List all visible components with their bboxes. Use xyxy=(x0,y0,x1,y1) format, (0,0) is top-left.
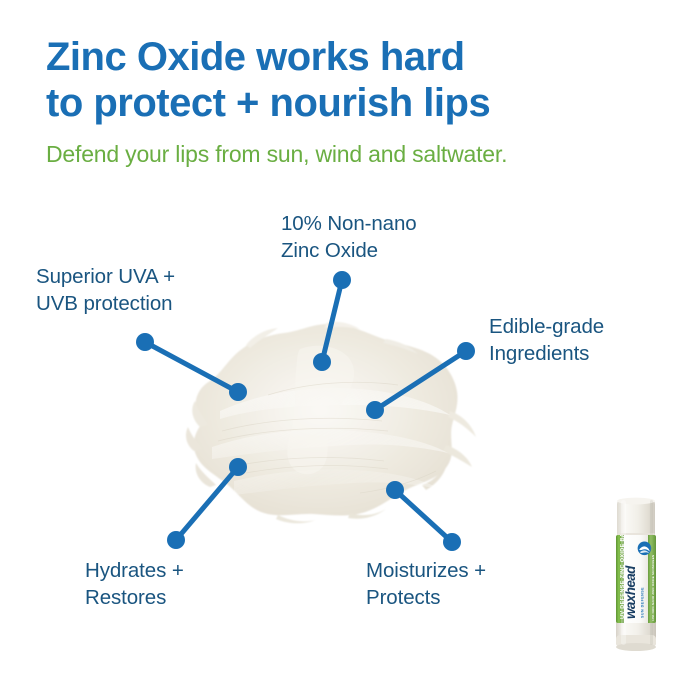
callout-line-1: 10% Non-nano xyxy=(281,210,417,237)
infographic-canvas: Zinc Oxide works hard to protect + nouri… xyxy=(0,0,679,679)
product-lip-balm-tube: waxhead SUN DEFENSE UV DEFENSE ZINC OXID… xyxy=(611,497,661,657)
connector-dot-non-nano-zinc-oxide-label xyxy=(333,271,351,289)
callout-line-1: Superior UVA + xyxy=(36,263,175,290)
callout-label-superior-uva-uvb: Superior UVA + UVB protection xyxy=(36,263,175,318)
page-subtitle: Defend your lips from sun, wind and salt… xyxy=(46,141,666,169)
page-title: Zinc Oxide works hard to protect + nouri… xyxy=(46,34,646,127)
callout-line-2: Ingredients xyxy=(489,340,604,367)
callout-line-2: Zinc Oxide xyxy=(281,237,417,264)
zinc-oxide-balm-swatch xyxy=(150,315,490,535)
headline-line-1: Zinc Oxide works hard xyxy=(46,34,646,80)
callout-line-2: Restores xyxy=(85,584,184,611)
connector-dot-moisturizes-protects-label xyxy=(443,533,461,551)
callout-line-1: Hydrates + xyxy=(85,557,184,584)
callout-label-moisturizes-protects: Moisturizes + Protects xyxy=(366,557,486,612)
callout-label-non-nano-zinc-oxide: 10% Non-nano Zinc Oxide xyxy=(281,210,417,265)
callout-label-edible-grade-ingredients: Edible-grade Ingredients xyxy=(489,313,604,368)
callout-line-2: Protects xyxy=(366,584,486,611)
tube-tagline-text: SUN DEFENSE xyxy=(641,587,645,618)
callout-line-1: Edible-grade xyxy=(489,313,604,340)
wave-logo-icon xyxy=(638,542,652,556)
headline-line-2: to protect + nourish lips xyxy=(46,80,646,126)
callout-label-hydrates-restores: Hydrates + Restores xyxy=(85,557,184,612)
callout-line-2: UVB protection xyxy=(36,290,175,317)
callout-line-1: Moisturizes + xyxy=(366,557,486,584)
